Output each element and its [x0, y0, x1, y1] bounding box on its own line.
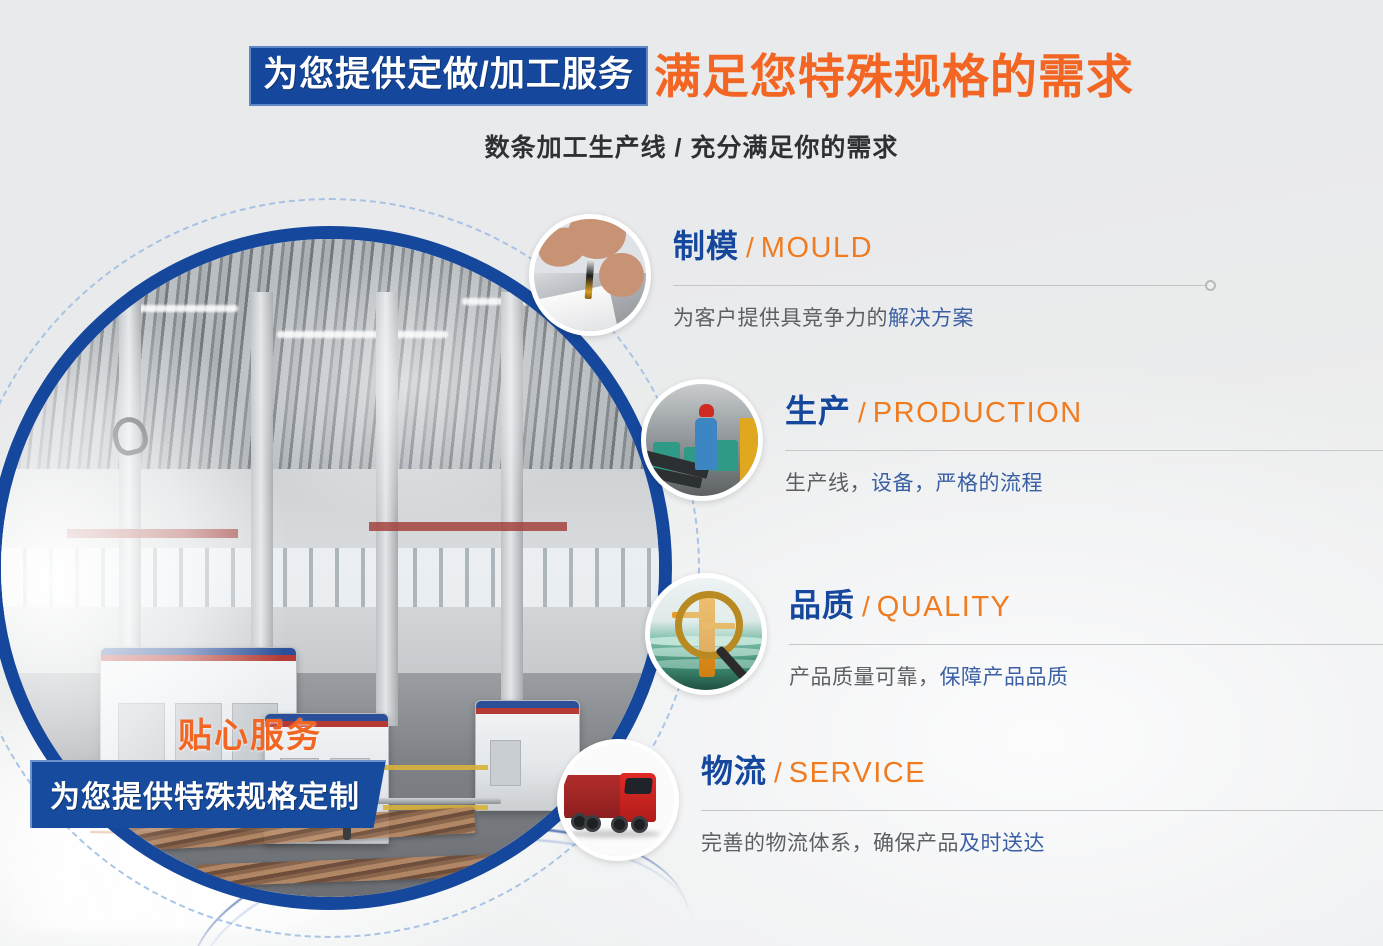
yellow-machine-panel: [740, 418, 758, 487]
safety-rail-1: [383, 765, 488, 770]
feature-item-service[interactable]: 物流/SERVICE 完善的物流体系，确保产品及时送达: [557, 739, 1381, 861]
cabin-window-6: [490, 740, 521, 786]
service-divider: [701, 810, 1383, 811]
title-badge: 为您提供定做/加工服务: [249, 46, 648, 106]
quality-desc-plain: 产品质量可靠，: [789, 666, 940, 689]
title-highlight: 满足您特殊规格的需求: [654, 53, 1134, 100]
service-separator: /: [774, 757, 782, 788]
service-heading: 物流/SERVICE: [701, 755, 1381, 788]
quality-description: 产品质量可靠，保障产品品质: [789, 661, 1383, 691]
roof-skylight-1: [93, 305, 238, 312]
feature-item-production[interactable]: 生产/PRODUCTION 生产线，设备，严格的流程: [641, 379, 1383, 501]
factory-red-beam-2: [369, 522, 566, 531]
quality-label-en: QUALITY: [877, 591, 1012, 623]
mould-heading: 制模/MOULD: [673, 230, 1233, 263]
production-separator: /: [858, 397, 866, 428]
mould-icon: [529, 214, 651, 336]
truck-wheel-3: [611, 816, 628, 833]
production-text-block: 生产/PRODUCTION 生产线，设备，严格的流程: [785, 379, 1383, 497]
production-icon: [641, 379, 763, 501]
mould-description: 为客户提供具竞争力的解决方案: [673, 302, 1233, 332]
title-row: 为您提供定做/加工服务 满足您特殊规格的需求: [249, 46, 1134, 106]
truck-wheel-2: [584, 815, 601, 832]
mould-label-cn: 制模: [673, 228, 739, 264]
quality-label-cn: 品质: [789, 587, 855, 623]
truck-wheel-4: [631, 816, 648, 833]
production-description: 生产线，设备，严格的流程: [785, 467, 1383, 497]
production-label-en: PRODUCTION: [873, 397, 1083, 429]
mould-text-block: 制模/MOULD 为客户提供具竞争力的解决方案: [673, 214, 1233, 332]
mould-separator: /: [746, 232, 754, 263]
truck-trailer: [564, 775, 622, 818]
promo-banner: 为您提供定做/加工服务 满足您特殊规格的需求 数条加工生产线 / 充分满足你的需…: [0, 0, 1383, 946]
cabin-roof-stripe-3: [476, 701, 579, 714]
production-divider: [785, 450, 1383, 451]
service-desc-highlight: 及时送达: [959, 832, 1045, 855]
production-label-cn: 生产: [785, 393, 851, 429]
mould-divider: [673, 285, 1210, 286]
feature-item-quality[interactable]: 品质/QUALITY 产品质量可靠，保障产品品质: [645, 573, 1383, 695]
mould-desc-plain: 为客户提供具竞争力的: [673, 307, 888, 330]
quality-text-block: 品质/QUALITY 产品质量可靠，保障产品品质: [789, 573, 1383, 691]
service-label-en: SERVICE: [789, 757, 926, 789]
worker-helmet: [699, 404, 714, 417]
factory-column-4: [501, 292, 523, 726]
factory-window-strip: [1, 548, 659, 607]
roof-skylight-2: [277, 331, 448, 338]
service-label-cn: 物流: [701, 753, 767, 789]
service-photo-art: [562, 744, 674, 856]
quality-separator: /: [862, 591, 870, 622]
truck-windshield: [624, 778, 653, 794]
quality-desc-highlight: 保障产品品质: [940, 666, 1069, 689]
feature-item-mould[interactable]: 制模/MOULD 为客户提供具竞争力的解决方案: [529, 214, 1233, 336]
production-photo-art: [646, 384, 758, 496]
quality-heading: 品质/QUALITY: [789, 589, 1383, 622]
worker-body: [695, 418, 717, 470]
mould-divider-dot: [1205, 280, 1216, 291]
service-title: 贴心服务: [178, 708, 322, 757]
service-text-block: 物流/SERVICE 完善的物流体系，确保产品及时送达: [701, 739, 1381, 857]
quality-photo-art: [650, 578, 762, 690]
mould-desc-highlight: 解决方案: [888, 307, 974, 330]
service-icon: [557, 739, 679, 861]
factory-column-3: [376, 292, 398, 726]
finger-right: [599, 253, 644, 298]
production-heading: 生产/PRODUCTION: [785, 395, 1383, 428]
factory-red-beam-1: [67, 529, 238, 538]
banner-subtitle: 数条加工生产线 / 充分满足你的需求: [0, 128, 1383, 164]
production-desc-plain: 生产线，: [785, 472, 871, 495]
production-desc-highlight: 设备，严格的流程: [871, 472, 1043, 495]
service-desc-plain: 完善的物流体系，确保产品: [701, 832, 959, 855]
mould-photo-art: [534, 219, 646, 331]
magnifier-lens: [675, 591, 743, 659]
quality-divider: [789, 644, 1383, 645]
service-description: 完善的物流体系，确保产品及时送达: [701, 827, 1381, 857]
service-banner: 为您提供特殊规格定制: [30, 760, 386, 828]
banner-header: 为您提供定做/加工服务 满足您特殊规格的需求 数条加工生产线 / 充分满足你的需…: [0, 46, 1383, 164]
quality-icon: [645, 573, 767, 695]
mould-label-en: MOULD: [761, 232, 873, 264]
cabin-roof-stripe: [101, 648, 296, 661]
